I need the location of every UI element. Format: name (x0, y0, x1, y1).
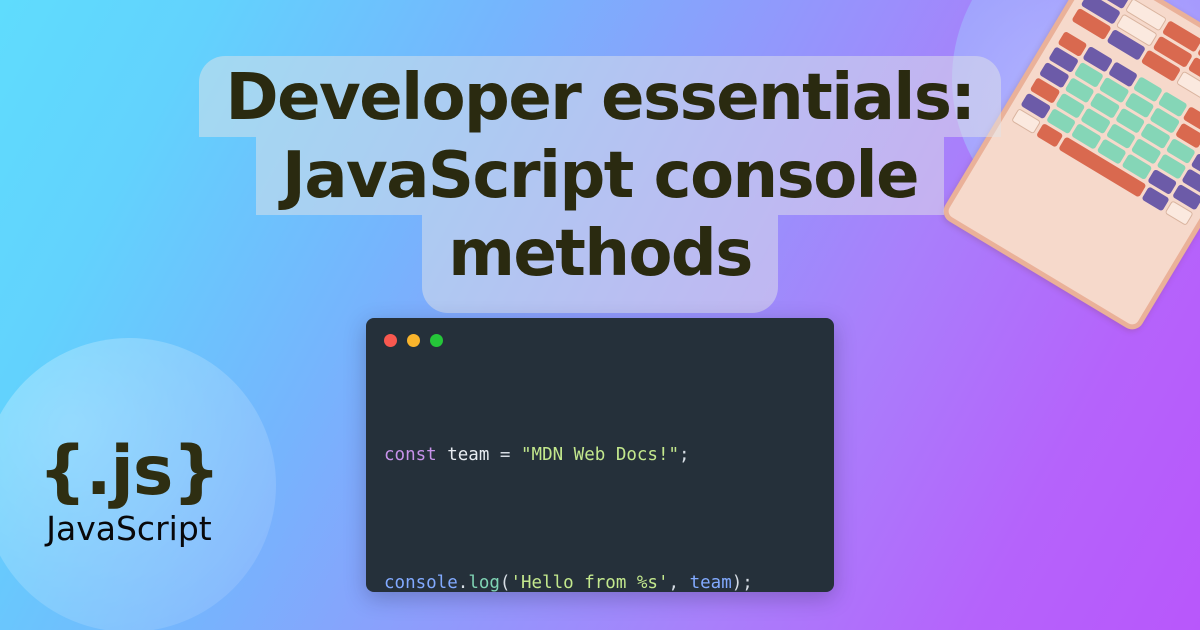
js-logo-word: JavaScript (46, 512, 211, 545)
code-line-1: const team = "MDN Web Docs!"; (384, 439, 834, 471)
minimize-icon[interactable] (407, 334, 420, 347)
token-string: "MDN Web Docs!" (521, 445, 679, 465)
token-punctuation: ( (500, 573, 511, 592)
code-block: const team = "MDN Web Docs!"; console.lo… (384, 375, 834, 592)
token-string: 'Hello from %s' (510, 573, 668, 592)
token-function: log (468, 573, 500, 592)
js-logo-mark: {.js} (38, 438, 219, 506)
token-punctuation: ; (679, 445, 690, 465)
token-keyword: const (384, 445, 437, 465)
poster-canvas: Developer essentials: JavaScript console… (0, 0, 1200, 630)
title-line-3: methods (422, 215, 778, 313)
token-operator: = (489, 445, 521, 465)
token-punctuation: ); (732, 573, 753, 592)
code-line-2: console.log('Hello from %s', team); (384, 567, 834, 592)
poster-title: Developer essentials: JavaScript console… (0, 56, 1200, 313)
maximize-icon[interactable] (430, 334, 443, 347)
token-punctuation: . (458, 573, 469, 592)
title-line-2: JavaScript console (256, 137, 944, 215)
token-punctuation: , (669, 573, 690, 592)
window-traffic-lights (366, 318, 834, 347)
token-variable: team (447, 445, 489, 465)
close-icon[interactable] (384, 334, 397, 347)
title-line-1: Developer essentials: (199, 56, 1000, 137)
token-object: team (690, 573, 732, 592)
token-object: console (384, 573, 458, 592)
code-window: const team = "MDN Web Docs!"; console.lo… (366, 318, 834, 592)
javascript-logo: {.js} JavaScript (0, 406, 258, 576)
